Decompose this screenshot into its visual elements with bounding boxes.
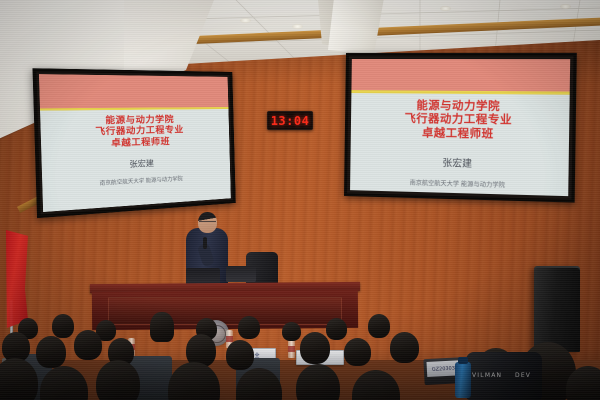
audience-head bbox=[282, 322, 301, 341]
audience-head bbox=[238, 316, 260, 339]
audience-head bbox=[326, 318, 347, 340]
audience-head bbox=[300, 332, 330, 364]
slide-content: 能源与动力学院 飞行器动力工程专业 卓越工程师班 张宏建 南京航空航天大学 能源… bbox=[350, 59, 570, 196]
slide-affiliation: 南京航空航天大学 能源与动力学院 bbox=[350, 176, 568, 191]
slide-divider-rule bbox=[351, 90, 569, 95]
audience-head bbox=[368, 314, 390, 338]
backpack-brand-text-right: DEV bbox=[515, 372, 531, 379]
audience-head bbox=[96, 360, 140, 400]
ceiling-light bbox=[240, 18, 251, 23]
slide-author: 张宏建 bbox=[350, 153, 568, 172]
audience-head bbox=[344, 338, 371, 366]
left-projection-screen[interactable]: 能源与动力学院 飞行器动力工程专业 卓越工程师班 张宏建 南京航空航天大学 能源… bbox=[32, 68, 235, 218]
audience-head bbox=[296, 364, 340, 400]
audience-head bbox=[74, 330, 102, 360]
glasses-icon bbox=[199, 221, 216, 225]
audience-head bbox=[226, 340, 254, 370]
slide-author: 张宏建 bbox=[42, 154, 230, 174]
blue-water-bottle bbox=[455, 362, 471, 398]
digital-clock: 13:04 bbox=[267, 111, 313, 130]
slide-body: 能源与动力学院 飞行器动力工程专业 卓越工程师班 张宏建 南京航空航天大学 能源… bbox=[40, 113, 230, 190]
lecture-hall-photo: 能源与动力学院 飞行器动力工程专业 卓越工程师班 张宏建 南京航空航天大学 能源… bbox=[0, 0, 600, 400]
ceiling-light bbox=[560, 4, 571, 9]
audience-head bbox=[390, 332, 419, 363]
stage-laptop-secondary bbox=[226, 266, 256, 282]
slide-content: 能源与动力学院 飞行器动力工程专业 卓越工程师班 张宏建 南京航空航天大学 能源… bbox=[39, 74, 231, 212]
audience-head bbox=[168, 362, 220, 400]
audience-head bbox=[52, 314, 74, 338]
ceiling-light bbox=[440, 6, 451, 11]
slide-header-band bbox=[351, 59, 570, 92]
slide-body: 能源与动力学院 飞行器动力工程专业 卓越工程师班 张宏建 南京航空航天大学 能源… bbox=[350, 99, 569, 191]
slide-affiliation: 南京航空航天大学 能源与动力学院 bbox=[42, 172, 230, 190]
microphone-icon bbox=[203, 237, 207, 249]
audience-head bbox=[36, 336, 66, 368]
right-projection-screen[interactable]: 能源与动力学院 飞行器动力工程专业 卓越工程师班 张宏建 南京航空航天大学 能源… bbox=[344, 53, 577, 203]
audience-head bbox=[352, 370, 400, 400]
backpack-brand-text-left: VILMAN bbox=[472, 372, 502, 379]
clock-time: 13:04 bbox=[271, 114, 310, 128]
slide-divider-rule bbox=[40, 107, 228, 111]
ceiling-light bbox=[292, 24, 303, 29]
audience-head bbox=[150, 312, 174, 342]
slide-header-band bbox=[39, 74, 228, 108]
slide-title-line-3: 卓越工程师班 bbox=[351, 126, 569, 143]
